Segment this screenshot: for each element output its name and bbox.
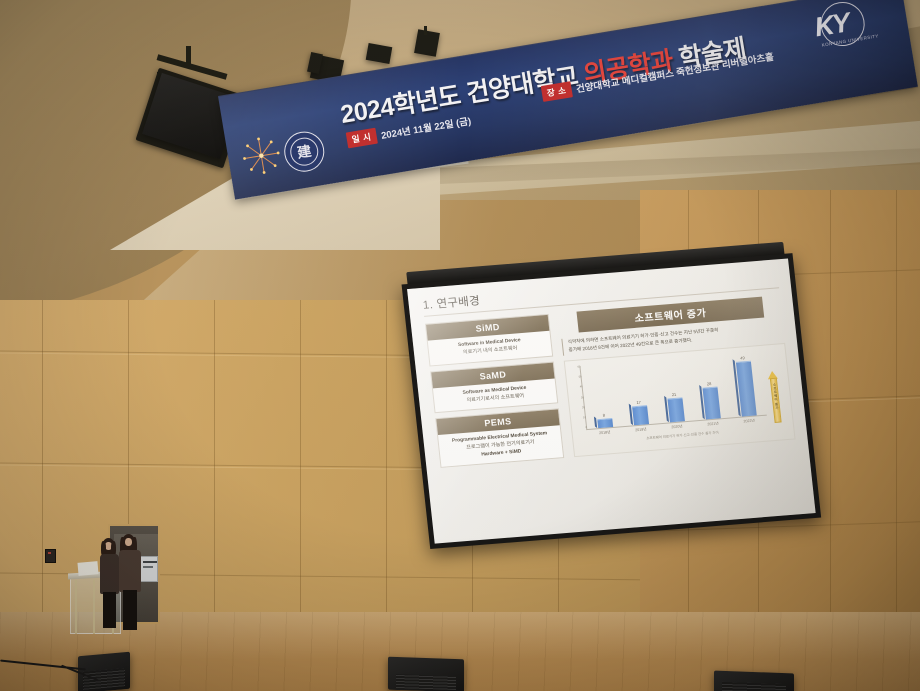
chart-bar [597, 418, 613, 428]
x-tick: 2022년 [741, 418, 756, 424]
screen-surface: 1. 연구배경 SiMD Software in Medical Device … [407, 258, 816, 543]
definition-cards: SiMD Software in Medical Device 의료기기 내의 … [425, 314, 564, 468]
chart-bar-group: 17 [631, 399, 649, 425]
card-samd: SaMD Software as Medical Device 의료기기로서의 … [430, 361, 558, 413]
card-pems: PEMS Programmable Electrical Medical Sys… [435, 408, 564, 468]
chart-bar-group: 28 [701, 381, 720, 420]
bar-value-label: 28 [707, 381, 712, 386]
panel-led-icon [48, 552, 51, 554]
bar-chart: 6050403020100 817212849 2018년2019년2020년2… [564, 343, 796, 457]
chart-bar-group: 21 [666, 392, 684, 423]
stage-monitor-center [388, 657, 464, 691]
chart-bar-group: 49 [735, 355, 757, 417]
bar-value-label: 8 [602, 413, 605, 418]
projection-screen: 1. 연구배경 SiMD Software in Medical Device … [402, 253, 823, 561]
stage-monitor-right [714, 671, 794, 691]
x-tick: 2019년 [633, 427, 648, 433]
growth-arrow-icon: 소프트웨어 증가 [767, 370, 784, 423]
presenter-2 [118, 534, 144, 632]
x-tick: 2020년 [669, 424, 684, 430]
auditorium-photo: 建 2024학년도 건양대학교 의공학과 학술제 일 시 2024년 11월 2… [0, 0, 920, 691]
chart-bar [632, 405, 649, 425]
chart-bar [702, 387, 720, 420]
chart-plot-area: 6050403020100 817212849 [579, 352, 766, 430]
stage-monitor-left [78, 652, 130, 691]
presentation-slide: 1. 연구배경 SiMD Software in Medical Device … [407, 258, 816, 543]
podium-papers [77, 561, 98, 576]
bar-value-label: 17 [636, 399, 641, 404]
x-tick: 2018년 [597, 430, 612, 436]
screen-frame: 1. 연구배경 SiMD Software in Medical Device … [402, 253, 822, 549]
card-simd: SiMD Software in Medical Device 의료기기 내의 … [425, 314, 553, 366]
chart-bar [667, 398, 685, 423]
bar-value-label: 49 [740, 355, 745, 360]
fireworks-icon [239, 132, 283, 180]
chart-bars: 817212849 [580, 351, 766, 429]
bar-value-label: 21 [672, 392, 677, 397]
chart-bar-group: 8 [596, 412, 613, 428]
wall-control-panel[interactable] [45, 549, 56, 563]
emblem-letter: 建 [288, 136, 320, 168]
chart-bar [735, 361, 756, 417]
chart-panel: 소프트웨어 증가 식약처에 의하면 소프트웨어 의료기기 허가·인증·신고 건수… [559, 295, 796, 457]
x-tick: 2021년 [705, 421, 720, 427]
